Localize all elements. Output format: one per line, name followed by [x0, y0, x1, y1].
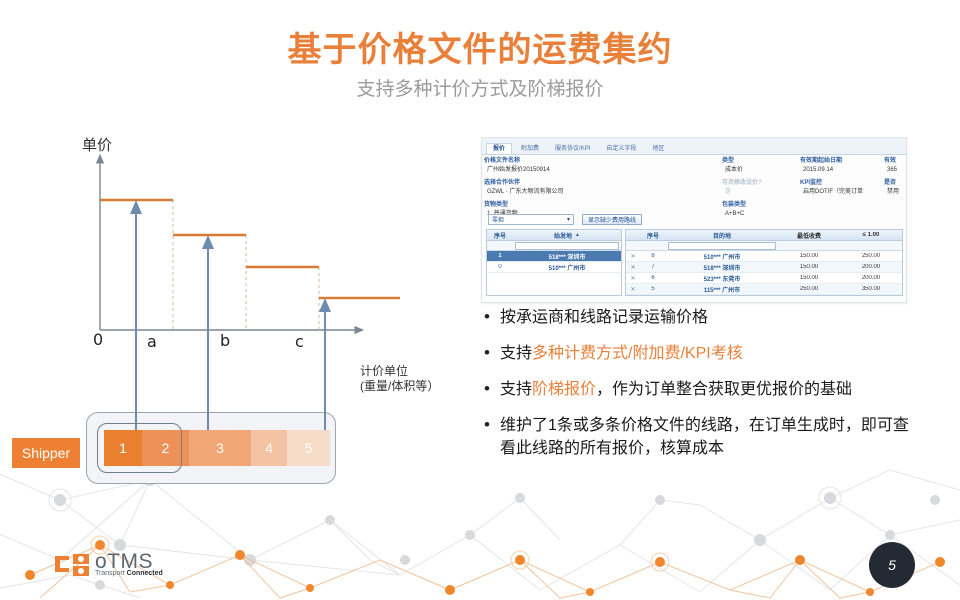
origin-col-place-label: 始发地: [554, 231, 572, 240]
dest-filter-rate: [840, 245, 902, 247]
delete-row-icon[interactable]: ✕: [626, 253, 640, 260]
app-field-label-2: 货物类型: [484, 201, 714, 210]
origin-filter-input[interactable]: [515, 242, 619, 250]
tier-block-5[interactable]: 5: [287, 430, 330, 466]
bullet-1-part-1: 多种计费方式/附加费/KPI考核: [532, 345, 743, 362]
dest-filter-minfee: [778, 245, 840, 247]
origin-grid-filter-row: [487, 241, 621, 251]
dest-cell-no: 6: [640, 275, 666, 281]
app-field-label-4: 可否修改设价?: [722, 179, 800, 188]
table-row[interactable]: ✕5115*** 广州市250.00350.00: [626, 284, 902, 295]
app-tab-bar: 报价附加费服务协议/KPI自定义字段地区: [482, 138, 906, 155]
app-tab-2[interactable]: 服务协议/KPI: [548, 143, 597, 154]
dest-cell-place: 510*** 广州市: [666, 252, 778, 261]
bullet-2-part-0: 支持: [500, 381, 532, 398]
bullet-item-2: •支持阶梯报价，作为订单整合获取更优报价的基础: [484, 378, 914, 401]
app-field-label-6: 有效期起始日期: [800, 157, 884, 166]
dest-cell-rate: 200.00: [840, 275, 902, 281]
chart-xtick-a: a: [147, 332, 157, 351]
chevron-down-icon: ▾: [567, 216, 570, 223]
dest-filter-place[interactable]: [666, 241, 778, 251]
show-missing-fee-routes-button[interactable]: 显示缺少费用路线: [582, 214, 642, 225]
shipper-badge: Shipper: [12, 438, 80, 468]
bullet-item-3: •维护了1条或多条价格文件的线路，在订单生成时，即可查看此线路的所有报价，核算成…: [484, 414, 914, 460]
dest-cell-rate: 200.00: [840, 264, 902, 270]
bullet-item-1: •支持多种计费方式/附加费/KPI考核: [484, 342, 914, 365]
otms-tagline-bold: Connected: [127, 570, 163, 577]
origin-col-place[interactable]: 始发地 ▲: [513, 231, 621, 240]
delete-row-icon[interactable]: ✕: [626, 264, 640, 271]
destination-grid-header: 序号 目的地 最低收费 ≤ 1.00: [626, 230, 902, 241]
table-row[interactable]: ✕7518*** 深圳市150.00200.00: [626, 262, 902, 273]
app-field-label-8: 有效: [884, 157, 907, 166]
bullet-text-3: 维护了1条或多条价格文件的线路，在订单生成时，即可查看此线路的所有报价，核算成本: [500, 414, 914, 460]
origin-cell-place: 510*** 广州市: [513, 263, 621, 272]
app-field-value-7[interactable]: 启用DOTIF（完美订单: [800, 188, 884, 198]
delete-row-icon[interactable]: ✕: [626, 286, 640, 293]
bullet-dot-icon: •: [484, 342, 500, 365]
price-file-app-screenshot: 报价附加费服务协议/KPI自定义字段地区 价格文件名称广州始发报价2015091…: [481, 137, 907, 303]
dest-cell-rate: 350.00: [840, 286, 902, 292]
app-field-value-5[interactable]: A+B+C: [722, 210, 800, 220]
destination-grid-filter-row: [626, 241, 902, 251]
chart-xtick-b: b: [220, 331, 230, 350]
table-row[interactable]: 0510*** 广州市: [487, 262, 621, 273]
app-field-3: 类型成本价: [722, 157, 800, 176]
delete-row-icon[interactable]: ✕: [626, 275, 640, 282]
bullet-0-part-0: 按承运商和线路记录运输价格: [500, 309, 708, 326]
bullet-1-part-0: 支持: [500, 345, 532, 362]
page-subtitle: 支持多种计价方式及阶梯报价: [0, 74, 960, 101]
dest-cell-place: 518*** 深圳市: [666, 263, 778, 272]
app-field-value-0[interactable]: 广州始发报价20150914: [484, 166, 714, 176]
feature-bullet-list: •按承运商和线路记录运输价格•支持多种计费方式/附加费/KPI考核•支持阶梯报价…: [484, 306, 914, 473]
app-field-value-1[interactable]: GZWL · 广东大物流有限公司: [484, 188, 714, 198]
page-number-badge: 5: [869, 542, 915, 588]
chart-xtick-0: 0: [93, 330, 103, 349]
app-field-label-0: 价格文件名称: [484, 157, 714, 166]
destination-grid[interactable]: 序号 目的地 最低收费 ≤ 1.00 ✕8510*** 广州市150.00250…: [625, 229, 903, 296]
page-title: 基于价格文件的运费集约: [0, 22, 960, 71]
dest-cell-minfee: 150.00: [778, 275, 840, 281]
destination-grid-body: ✕8510*** 广州市150.00250.00✕7518*** 深圳市150.…: [626, 251, 902, 295]
dest-cell-place: 115*** 广州市: [666, 285, 778, 294]
app-field-value-4[interactable]: 是: [722, 188, 800, 198]
app-field-value-9[interactable]: 禁用: [884, 188, 907, 198]
table-row[interactable]: 1518*** 深圳市: [487, 251, 621, 262]
bullet-item-0: •按承运商和线路记录运输价格: [484, 306, 914, 329]
app-field-9: 是否禁用: [884, 179, 907, 198]
tier-block-4[interactable]: 4: [251, 430, 287, 466]
app-toolbar: 零担 ▾ 显示缺少费用路线: [488, 214, 642, 225]
origin-grid[interactable]: 序号 始发地 ▲ 1518*** 深圳市0510*** 广州市: [486, 229, 622, 296]
origin-grid-header: 序号 始发地 ▲: [487, 230, 621, 241]
bullet-3-part-0: 维护了1条或多条价格文件的线路，在订单生成时，即可查看此线路的所有报价，核算成本: [500, 417, 909, 457]
bullet-text-2: 支持阶梯报价，作为订单整合获取更优报价的基础: [500, 378, 852, 401]
dest-col-rate[interactable]: ≤ 1.00: [840, 232, 902, 238]
origin-cell-no: 1: [487, 253, 513, 259]
bullet-dot-icon: •: [484, 378, 500, 401]
dest-cell-minfee: 150.00: [778, 264, 840, 270]
app-field-5: 包装类型A+B+C: [722, 201, 800, 220]
dest-col-no[interactable]: 序号: [640, 231, 666, 240]
origin-cell-place: 518*** 深圳市: [513, 252, 621, 261]
tiered-price-chart: 单价: [60, 130, 420, 400]
dest-cell-no: 7: [640, 264, 666, 270]
sort-ascending-icon: ▲: [575, 232, 580, 238]
dest-cell-minfee: 250.00: [778, 286, 840, 292]
app-field-label-5: 包装类型: [722, 201, 800, 210]
dest-filter-action: [626, 245, 640, 247]
bullet-2-part-2: ，作为订单整合获取更优报价的基础: [596, 381, 852, 398]
origin-cell-no: 0: [487, 264, 513, 270]
table-row[interactable]: ✕8510*** 广州市150.00250.00: [626, 251, 902, 262]
app-field-label-3: 类型: [722, 157, 800, 166]
bullet-text-1: 支持多种计费方式/附加费/KPI考核: [500, 342, 743, 365]
origin-col-no[interactable]: 序号: [487, 231, 513, 240]
origin-filter-no: [487, 245, 513, 247]
origin-grid-body: 1518*** 深圳市0510*** 广州市: [487, 251, 621, 273]
app-tab-4[interactable]: 地区: [645, 143, 671, 154]
dest-cell-rate: 250.00: [840, 253, 902, 259]
slide-canvas: 基于价格文件的运费集约 支持多种计价方式及阶梯报价 单价: [0, 0, 960, 600]
app-tab-3[interactable]: 自定义字段: [599, 143, 643, 154]
dest-col-minfee[interactable]: 最低收费: [778, 231, 840, 240]
otms-logo-text: oTMS Transport Connected: [95, 550, 163, 577]
app-field-8: 有效365: [884, 157, 907, 176]
tier-block-3[interactable]: 3: [189, 430, 251, 466]
chart-x-axis-label-main: 计价单位: [360, 364, 408, 378]
tier-selection-highlight: [97, 423, 182, 473]
chart-plot: [60, 130, 420, 390]
app-field-6: 有效期起始日期2015.09.14: [800, 157, 884, 176]
app-field-label-9: 是否: [884, 179, 907, 188]
otms-logo-tagline: Transport Connected: [95, 570, 163, 577]
cargo-mode-select[interactable]: 零担 ▾: [488, 214, 574, 225]
table-row[interactable]: ✕6523*** 东莞市150.00200.00: [626, 273, 902, 284]
bullet-dot-icon: •: [484, 306, 500, 329]
app-field-1: 选择合作伙伴GZWL · 广东大物流有限公司: [484, 179, 714, 198]
dest-cell-no: 5: [640, 286, 666, 292]
bullet-2-part-1: 阶梯报价: [532, 381, 596, 398]
dest-filter-no: [640, 245, 666, 247]
dest-cell-place: 523*** 东莞市: [666, 274, 778, 283]
app-field-label-7: KPI监控: [800, 179, 884, 188]
app-field-value-6[interactable]: 2015.09.14: [800, 166, 884, 176]
dest-col-place[interactable]: 目的地: [666, 231, 778, 240]
app-field-value-3[interactable]: 成本价: [722, 166, 800, 176]
dest-filter-input[interactable]: [668, 242, 776, 250]
app-field-0: 价格文件名称广州始发报价20150914: [484, 157, 714, 176]
bullet-dot-icon: •: [484, 414, 500, 460]
app-field-value-8[interactable]: 365: [884, 166, 907, 176]
dest-cell-minfee: 150.00: [778, 253, 840, 259]
app-field-4: 可否修改设价?是: [722, 179, 800, 198]
app-field-7: KPI监控启用DOTIF（完美订单: [800, 179, 884, 198]
chart-x-axis-label-sub: (重量/体积等）: [360, 379, 439, 393]
app-tab-1[interactable]: 附加费: [514, 143, 546, 154]
chart-xtick-c: c: [295, 332, 304, 351]
app-field-label-1: 选择合作伙伴: [484, 179, 714, 188]
cargo-mode-select-value: 零担: [492, 215, 504, 224]
bullet-text-0: 按承运商和线路记录运输价格: [500, 306, 708, 329]
origin-filter-place[interactable]: [513, 241, 621, 251]
dest-cell-no: 8: [640, 253, 666, 259]
app-grids: 序号 始发地 ▲ 1518*** 深圳市0510*** 广州市 序号 目的地: [486, 229, 903, 296]
chart-x-axis-label: 计价单位 (重量/体积等）: [360, 364, 439, 394]
otms-tagline-plain: Transport: [95, 570, 127, 577]
app-tab-0[interactable]: 报价: [486, 143, 512, 154]
